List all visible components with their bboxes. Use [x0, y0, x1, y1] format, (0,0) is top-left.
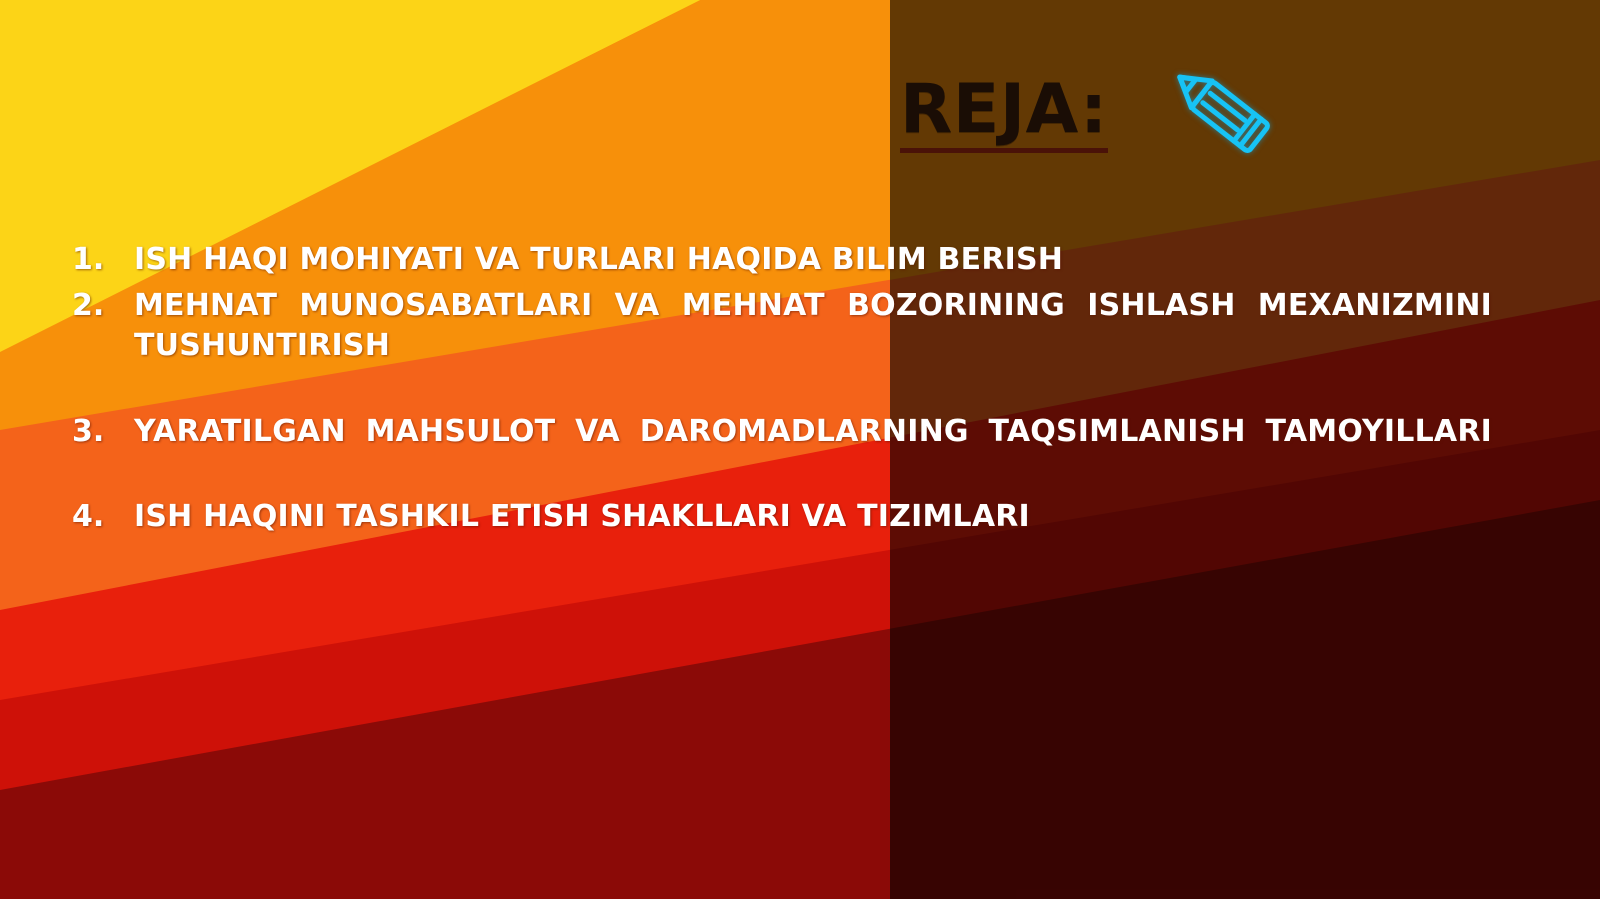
- pencil-icon: [1160, 60, 1290, 174]
- list-item-number: 4.: [72, 497, 134, 537]
- list-item-number: 2.: [72, 286, 134, 326]
- list-item-label: MEHNAT MUNOSABATLARI VA MEHNAT BOZORININ…: [134, 286, 1492, 406]
- list-item-label: ISH HAQINI TASHKIL ETISH SHAKLLARI VA TI…: [134, 497, 1492, 537]
- list-item: 1. ISH HAQI MOHIYATI VA TURLARI HAQIDA B…: [72, 240, 1492, 280]
- list-item: 2. MEHNAT MUNOSABATLARI VA MEHNAT BOZORI…: [72, 286, 1492, 406]
- list-item: 4. ISH HAQINI TASHKIL ETISH SHAKLLARI VA…: [72, 497, 1492, 537]
- list-item: 3. YARATILGAN MAHSULOT VA DAROMADLARNING…: [72, 412, 1492, 492]
- page-title: REJA:: [900, 76, 1108, 153]
- list-item-label: ISH HAQI MOHIYATI VA TURLARI HAQIDA BILI…: [134, 240, 1492, 280]
- list-item-number: 3.: [72, 412, 134, 452]
- reja-list: 1. ISH HAQI MOHIYATI VA TURLARI HAQIDA B…: [72, 240, 1492, 543]
- slide-canvas: REJA:: [0, 0, 1600, 899]
- title-block: REJA:: [900, 76, 1290, 174]
- list-item-number: 1.: [72, 240, 134, 280]
- list-item-label: YARATILGAN MAHSULOT VA DAROMADLARNING TA…: [134, 412, 1492, 492]
